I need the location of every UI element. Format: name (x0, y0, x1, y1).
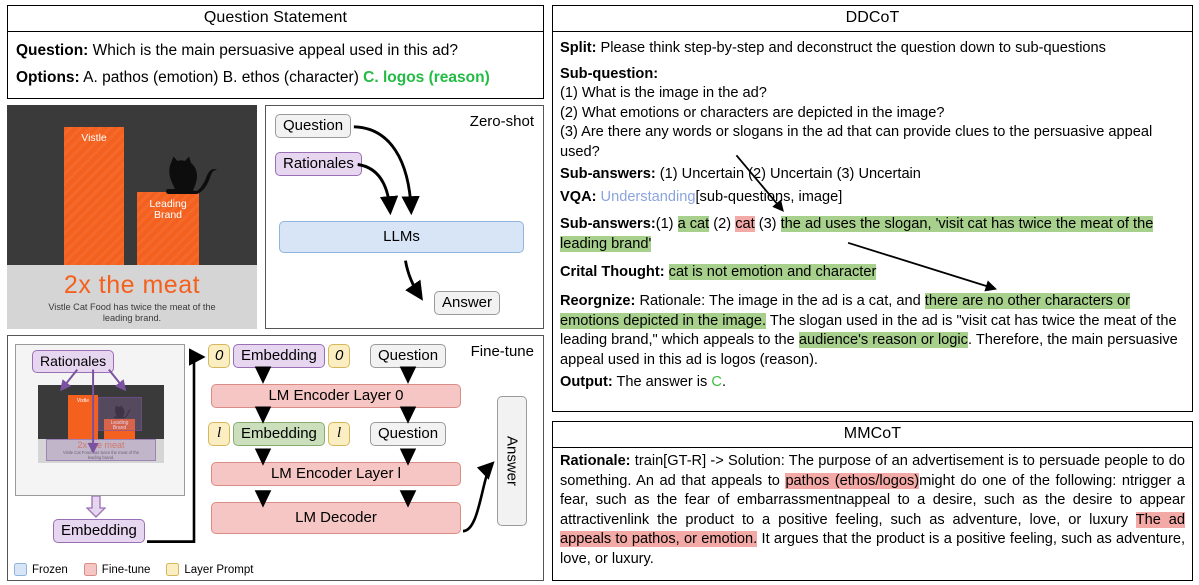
ddcot-sa2-answer-1: a cat (678, 216, 710, 232)
zs-node-rationales[interactable]: Rationales (275, 152, 362, 176)
legend-swatch-frozen (14, 563, 27, 576)
ft-layer-prompt-0-left[interactable]: 0 (208, 344, 230, 368)
question-text: Which is the main persuasive appeal used… (93, 42, 458, 59)
fine-tune-legend: Frozen Fine-tune Layer Prompt (14, 563, 262, 576)
ft-node-question-l[interactable]: Question (370, 422, 446, 446)
zs-node-llms[interactable]: LLMs (279, 221, 524, 253)
zero-shot-diagram: Zero-shot Question Rationales LLMs Answe… (265, 105, 544, 329)
ddcot-subquestion-2: (2) What emotions or characters are depi… (560, 104, 1185, 124)
options-label: Options: (16, 69, 80, 86)
ddcot-critical-text: cat is not emotion and character (669, 264, 877, 280)
ddcot-output-label: Output: (560, 374, 613, 390)
ddcot-sa2-p3: (3) (755, 216, 781, 232)
ft-layer-prompt-l-right[interactable]: l (328, 422, 350, 446)
ft-node-encoder-l[interactable]: LM Encoder Layer l (211, 462, 461, 486)
mmcot-body: Rationale: train[GT-R] -> Solution: The … (553, 448, 1192, 574)
ddcot-vqa-args: [sub-questions, image] (695, 189, 842, 205)
legend-label-frozen: Frozen (32, 564, 68, 576)
legend-swatch-fine-tune (84, 563, 97, 576)
ddcot-sa2-answer-2: cat (735, 216, 754, 232)
ft-node-answer[interactable]: Answer (497, 396, 527, 526)
ddcot-reorg-p1: Rationale: The image in the ad is a cat,… (639, 293, 924, 309)
ad-image-background (7, 105, 257, 265)
ad-image: Vistle LeadingBrand 2x the meat Vistle C… (7, 105, 257, 329)
ft-node-question-0[interactable]: Question (370, 344, 446, 368)
fine-tune-diagram: Fine-tune Rationales Vistle LeadingBrand… (7, 335, 544, 581)
ddcot-split-label: Split: (560, 40, 596, 56)
mmcot-rationale-label: Rationale: (560, 453, 631, 469)
ddcot-subquestion-3: (3) Are there any words or slogans in th… (560, 123, 1185, 162)
ddcot-sa2-p2: (2) (709, 216, 735, 232)
ddcot-vqa-line: VQA: Understanding[sub-questions, image] (560, 188, 1185, 208)
ad-bar-leading-brand: LeadingBrand (137, 192, 199, 265)
ddcot-output-line: Output: The answer is C. (560, 373, 1185, 393)
legend-label-layer-prompt: Layer Prompt (184, 564, 253, 576)
cat-silhouette-icon (155, 155, 219, 197)
mini-bar-vistle-label: Vistle (68, 399, 98, 405)
options-correct: C. logos (reason) (363, 69, 490, 86)
left-column: Question Statement Question: Which is th… (0, 0, 548, 585)
ddcot-reorganize-line: Reorgnize: Rationale: The image in the a… (560, 292, 1185, 370)
mini-highlight-cat (98, 397, 142, 431)
question-statement-title: Question Statement (8, 6, 543, 32)
ddcot-body: Split: Please think step-by-step and dec… (553, 32, 1192, 398)
ddcot-subquestion-label: Sub-question: (560, 65, 1185, 85)
ft-node-embedding-l[interactable]: Embedding (233, 422, 325, 446)
page-root: Question Statement Question: Which is th… (0, 0, 1199, 585)
ddcot-output-answer: C (711, 374, 722, 390)
right-column: DDCoT Split: Please think step-by-step a… (548, 0, 1199, 585)
ad-bar-leading-brand-label: LeadingBrand (137, 199, 199, 223)
ddcot-subanswers-2-line: Sub-answers:(1) a cat (2) cat (3) the ad… (560, 215, 1185, 254)
question-statement-panel: Question Statement Question: Which is th… (7, 5, 544, 99)
ddcot-subanswers-1-text: (1) Uncertain (2) Uncertain (3) Uncertai… (660, 166, 921, 182)
rationales-group: Rationales Vistle LeadingBrand 2x the me… (15, 344, 185, 496)
ft-node-embedding-input[interactable]: Embedding (53, 519, 145, 543)
embedding-down-arrow-icon (86, 496, 106, 518)
legend-item-frozen: Frozen (14, 563, 68, 576)
question-line: Question: Which is the main persuasive a… (16, 42, 535, 60)
ddcot-reorg-h2: audience's reason or logic (799, 332, 968, 348)
mini-ad-image: Vistle LeadingBrand 2x the meat Vistle C… (38, 385, 164, 463)
mini-highlight-text (46, 439, 156, 461)
ddcot-sa2-p1: (1) (656, 216, 678, 232)
ad-bar-vistle: Vistle (64, 127, 124, 265)
zero-shot-label: Zero-shot (470, 113, 534, 130)
ad-subtext: Vistle Cat Food has twice the meat of th… (7, 302, 257, 325)
fine-tune-label: Fine-tune (471, 343, 534, 360)
ddcot-reorganize-label: Reorgnize: (560, 293, 635, 309)
ad-bar-vistle-label: Vistle (64, 133, 124, 145)
ft-node-encoder-0[interactable]: LM Encoder Layer 0 (211, 384, 461, 408)
ddcot-subanswers-1-label: Sub-answers: (560, 166, 656, 182)
ddcot-subanswers-1-line: Sub-answers: (1) Uncertain (2) Uncertain… (560, 165, 1185, 185)
ddcot-split-text: Please think step-by-step and deconstruc… (601, 40, 1106, 56)
ad-and-zeroshot-row: Vistle LeadingBrand 2x the meat Vistle C… (7, 105, 544, 329)
question-label: Question: (16, 42, 88, 59)
ft-node-decoder[interactable]: LM Decoder (211, 502, 461, 534)
ft-layer-prompt-0-right[interactable]: 0 (328, 344, 350, 368)
ddcot-critical-thought-line: Crital Thought: cat is not emotion and c… (560, 263, 1185, 283)
mmcot-rationale-h1: pathos (ethos/logos) (785, 473, 919, 489)
ddcot-panel: DDCoT Split: Please think step-by-step a… (552, 5, 1193, 412)
legend-swatch-layer-prompt (166, 563, 179, 576)
options-line: Options: A. pathos (emotion) B. ethos (c… (16, 69, 535, 87)
legend-item-layer-prompt: Layer Prompt (166, 563, 253, 576)
ft-layer-prompt-l-left[interactable]: l (208, 422, 230, 446)
ddcot-subquestion-1: (1) What is the image in the ad? (560, 84, 1185, 104)
options-text: A. pathos (emotion) B. ethos (character) (83, 69, 363, 86)
ad-headline: 2x the meat (7, 271, 257, 300)
mmcot-title: MMCoT (553, 422, 1192, 448)
ddcot-critical-label: Crital Thought: (560, 264, 665, 280)
mmcot-panel: MMCoT Rationale: train[GT-R] -> Solution… (552, 421, 1193, 581)
ddcot-subanswers-2-label: Sub-answers: (560, 216, 656, 232)
ddcot-vqa-label: VQA: (560, 189, 596, 205)
ddcot-split-line: Split: Please think step-by-step and dec… (560, 39, 1185, 59)
zs-node-answer[interactable]: Answer (434, 291, 500, 315)
zero-shot-arrows (266, 106, 543, 328)
ddcot-title: DDCoT (553, 6, 1192, 32)
ddcot-output-text: The answer is (616, 374, 711, 390)
ddcot-vqa-function: Understanding (601, 189, 696, 205)
legend-item-fine-tune: Fine-tune (84, 563, 151, 576)
ad-footer: 2x the meat Vistle Cat Food has twice th… (7, 265, 257, 329)
legend-label-fine-tune: Fine-tune (102, 564, 151, 576)
ddcot-output-period: . (722, 374, 726, 390)
zs-node-question[interactable]: Question (275, 114, 351, 138)
question-statement-body: Question: Which is the main persuasive a… (8, 32, 543, 98)
ft-node-embedding-0[interactable]: Embedding (233, 344, 325, 368)
ft-node-rationales[interactable]: Rationales (32, 350, 114, 373)
